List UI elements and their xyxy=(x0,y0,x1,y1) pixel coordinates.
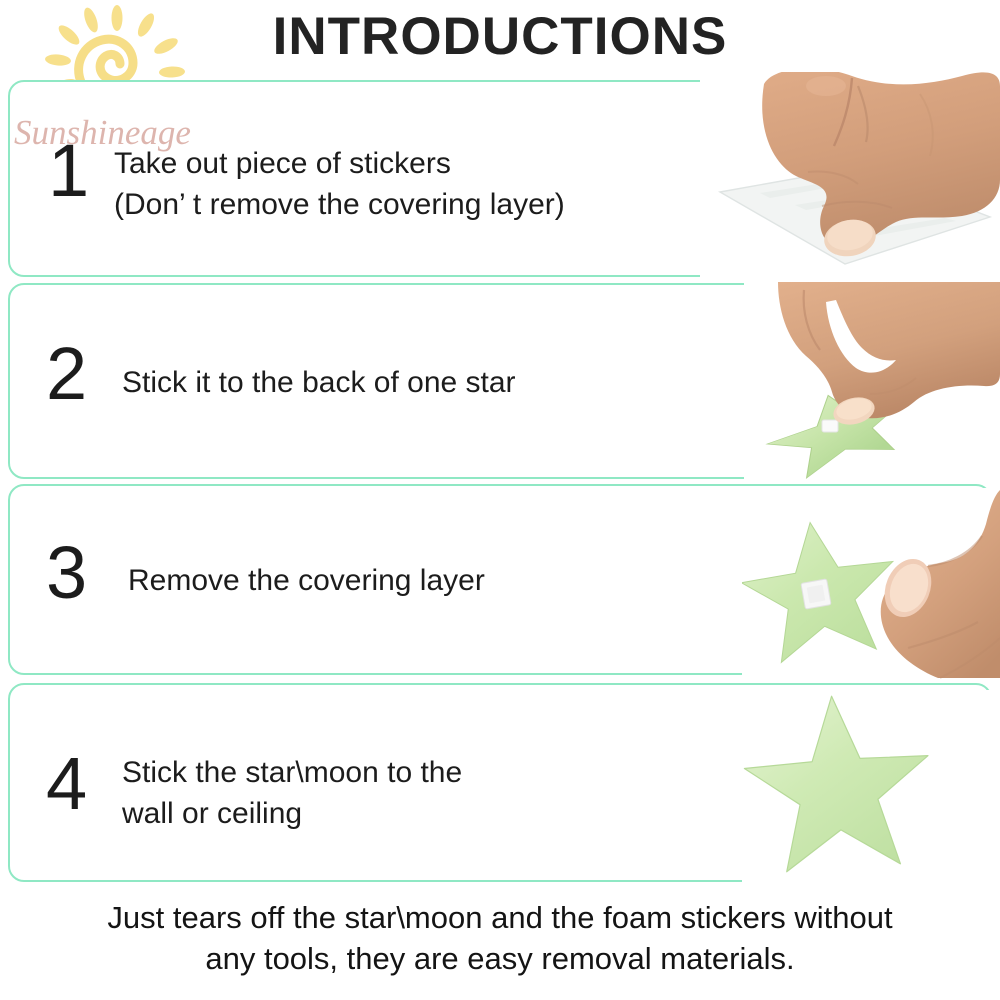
step-number: 2 xyxy=(46,337,87,411)
step-4-photo xyxy=(742,690,1000,886)
step-description: Remove the covering layer xyxy=(128,561,485,602)
step-description: Stick it to the back of one star xyxy=(122,363,516,404)
step-number: 4 xyxy=(46,747,87,821)
step-number: 3 xyxy=(46,536,87,610)
watermark-text: Sunshineage xyxy=(14,113,191,153)
step-description: Stick the star\moon to the wall or ceili… xyxy=(122,753,462,834)
introductions-page: INTRODUCTIONS Sunshineage 1 Take out pie… xyxy=(0,0,1000,1000)
page-header: INTRODUCTIONS xyxy=(0,0,1000,78)
step-2-photo xyxy=(744,282,1000,480)
footer-caption: Just tears off the star\moon and the foa… xyxy=(20,898,980,980)
step-3-photo xyxy=(742,488,1000,680)
step-description: Take out piece of stickers (Don’ t remov… xyxy=(114,144,565,225)
step-1-photo xyxy=(700,72,1000,280)
page-title: INTRODUCTIONS xyxy=(0,6,1000,67)
